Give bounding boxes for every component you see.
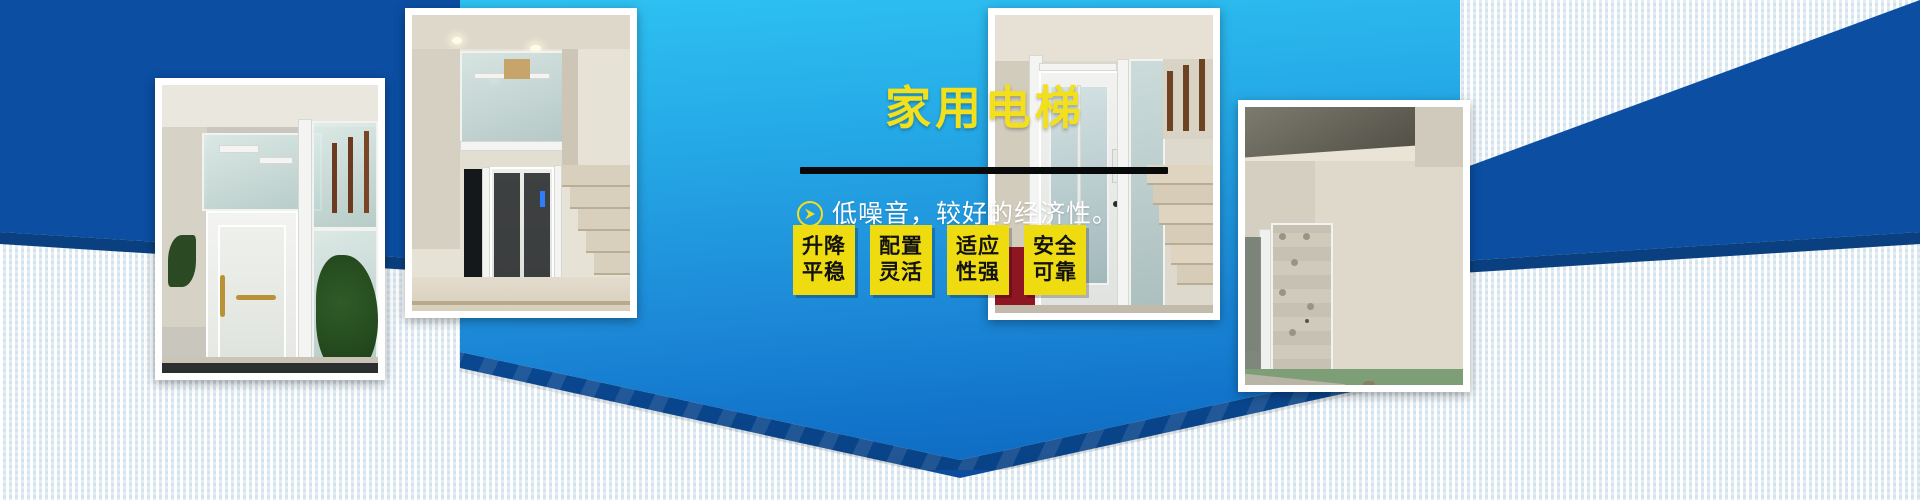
badge-line-2: 性强 bbox=[956, 260, 1000, 286]
badge-line-2: 可靠 bbox=[1033, 260, 1077, 286]
feature-badge-list: 升降 平稳 配置 灵活 适应 性强 安全 可靠 bbox=[793, 225, 1175, 295]
badge-line-1: 适应 bbox=[956, 234, 1000, 260]
home-elevator-banner: 家用电梯 低噪音，较好的经济性。 升降 平稳 配置 灵活 适应 性强 bbox=[0, 0, 1920, 500]
banner-content: 家用电梯 低噪音，较好的经济性。 升降 平稳 配置 灵活 适应 性强 bbox=[795, 0, 1175, 500]
photo-glass-shaft-white-door bbox=[155, 78, 385, 380]
feature-badge[interactable]: 适应 性强 bbox=[947, 225, 1009, 295]
photo-villa-elevator-stairs bbox=[405, 8, 637, 318]
badge-line-1: 安全 bbox=[1033, 234, 1077, 260]
feature-badge[interactable]: 安全 可靠 bbox=[1024, 225, 1086, 295]
badge-line-2: 平稳 bbox=[802, 260, 846, 286]
circle-chevron-right-icon bbox=[797, 201, 823, 227]
page-title: 家用电梯 bbox=[795, 82, 1175, 134]
title-divider bbox=[800, 167, 1168, 174]
badge-line-1: 配置 bbox=[879, 234, 923, 260]
feature-badge[interactable]: 升降 平稳 bbox=[793, 225, 855, 295]
badge-line-1: 升降 bbox=[802, 234, 846, 260]
feature-badge[interactable]: 配置 灵活 bbox=[870, 225, 932, 295]
badge-line-2: 灵活 bbox=[879, 260, 923, 286]
photo-installation-site bbox=[1238, 100, 1470, 392]
